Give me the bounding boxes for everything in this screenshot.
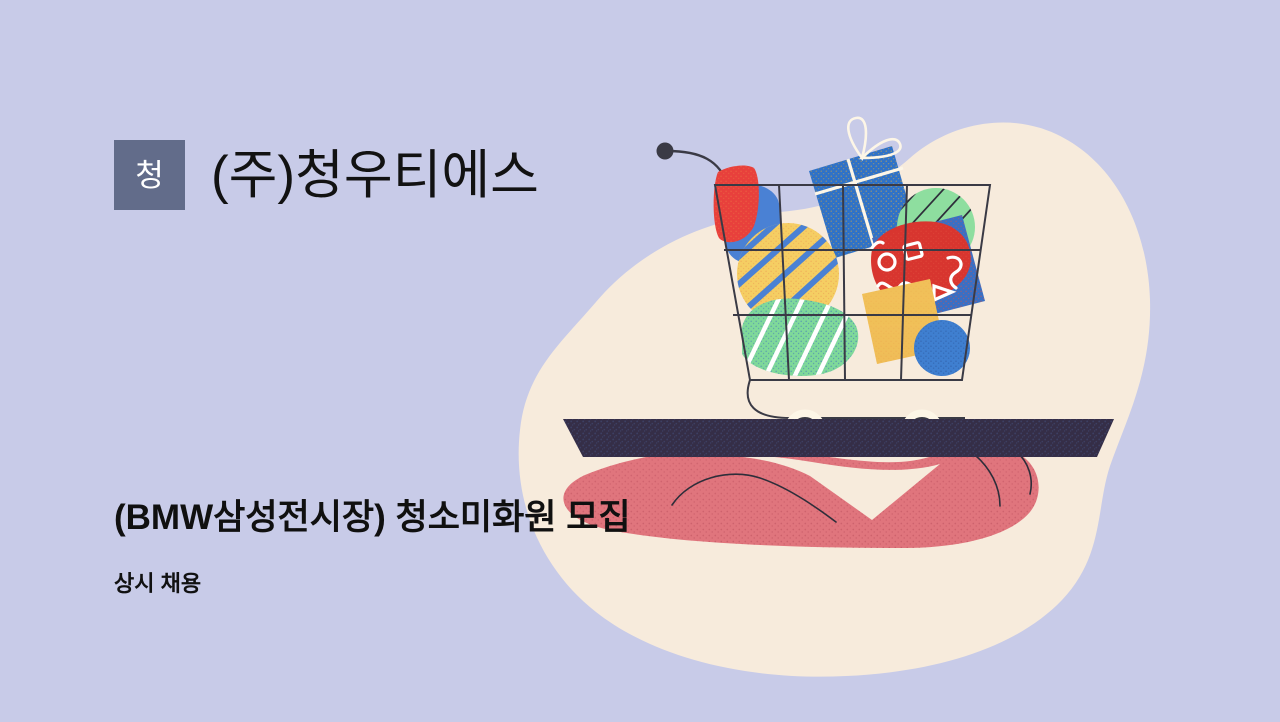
company-logo-badge: 청: [114, 140, 185, 210]
job-posting-card: 청 (주)청우티에스 (BMW삼성전시장) 청소미화원 모집 상시 채용: [0, 0, 1280, 722]
employment-type-label: 상시 채용: [114, 571, 201, 596]
brand-row: 청 (주)청우티에스: [114, 140, 539, 210]
company-name: (주)청우티에스: [211, 149, 539, 202]
company-logo-initial: 청: [135, 160, 164, 191]
job-posting-title: (BMW삼성전시장) 청소미화원 모집: [114, 498, 631, 538]
